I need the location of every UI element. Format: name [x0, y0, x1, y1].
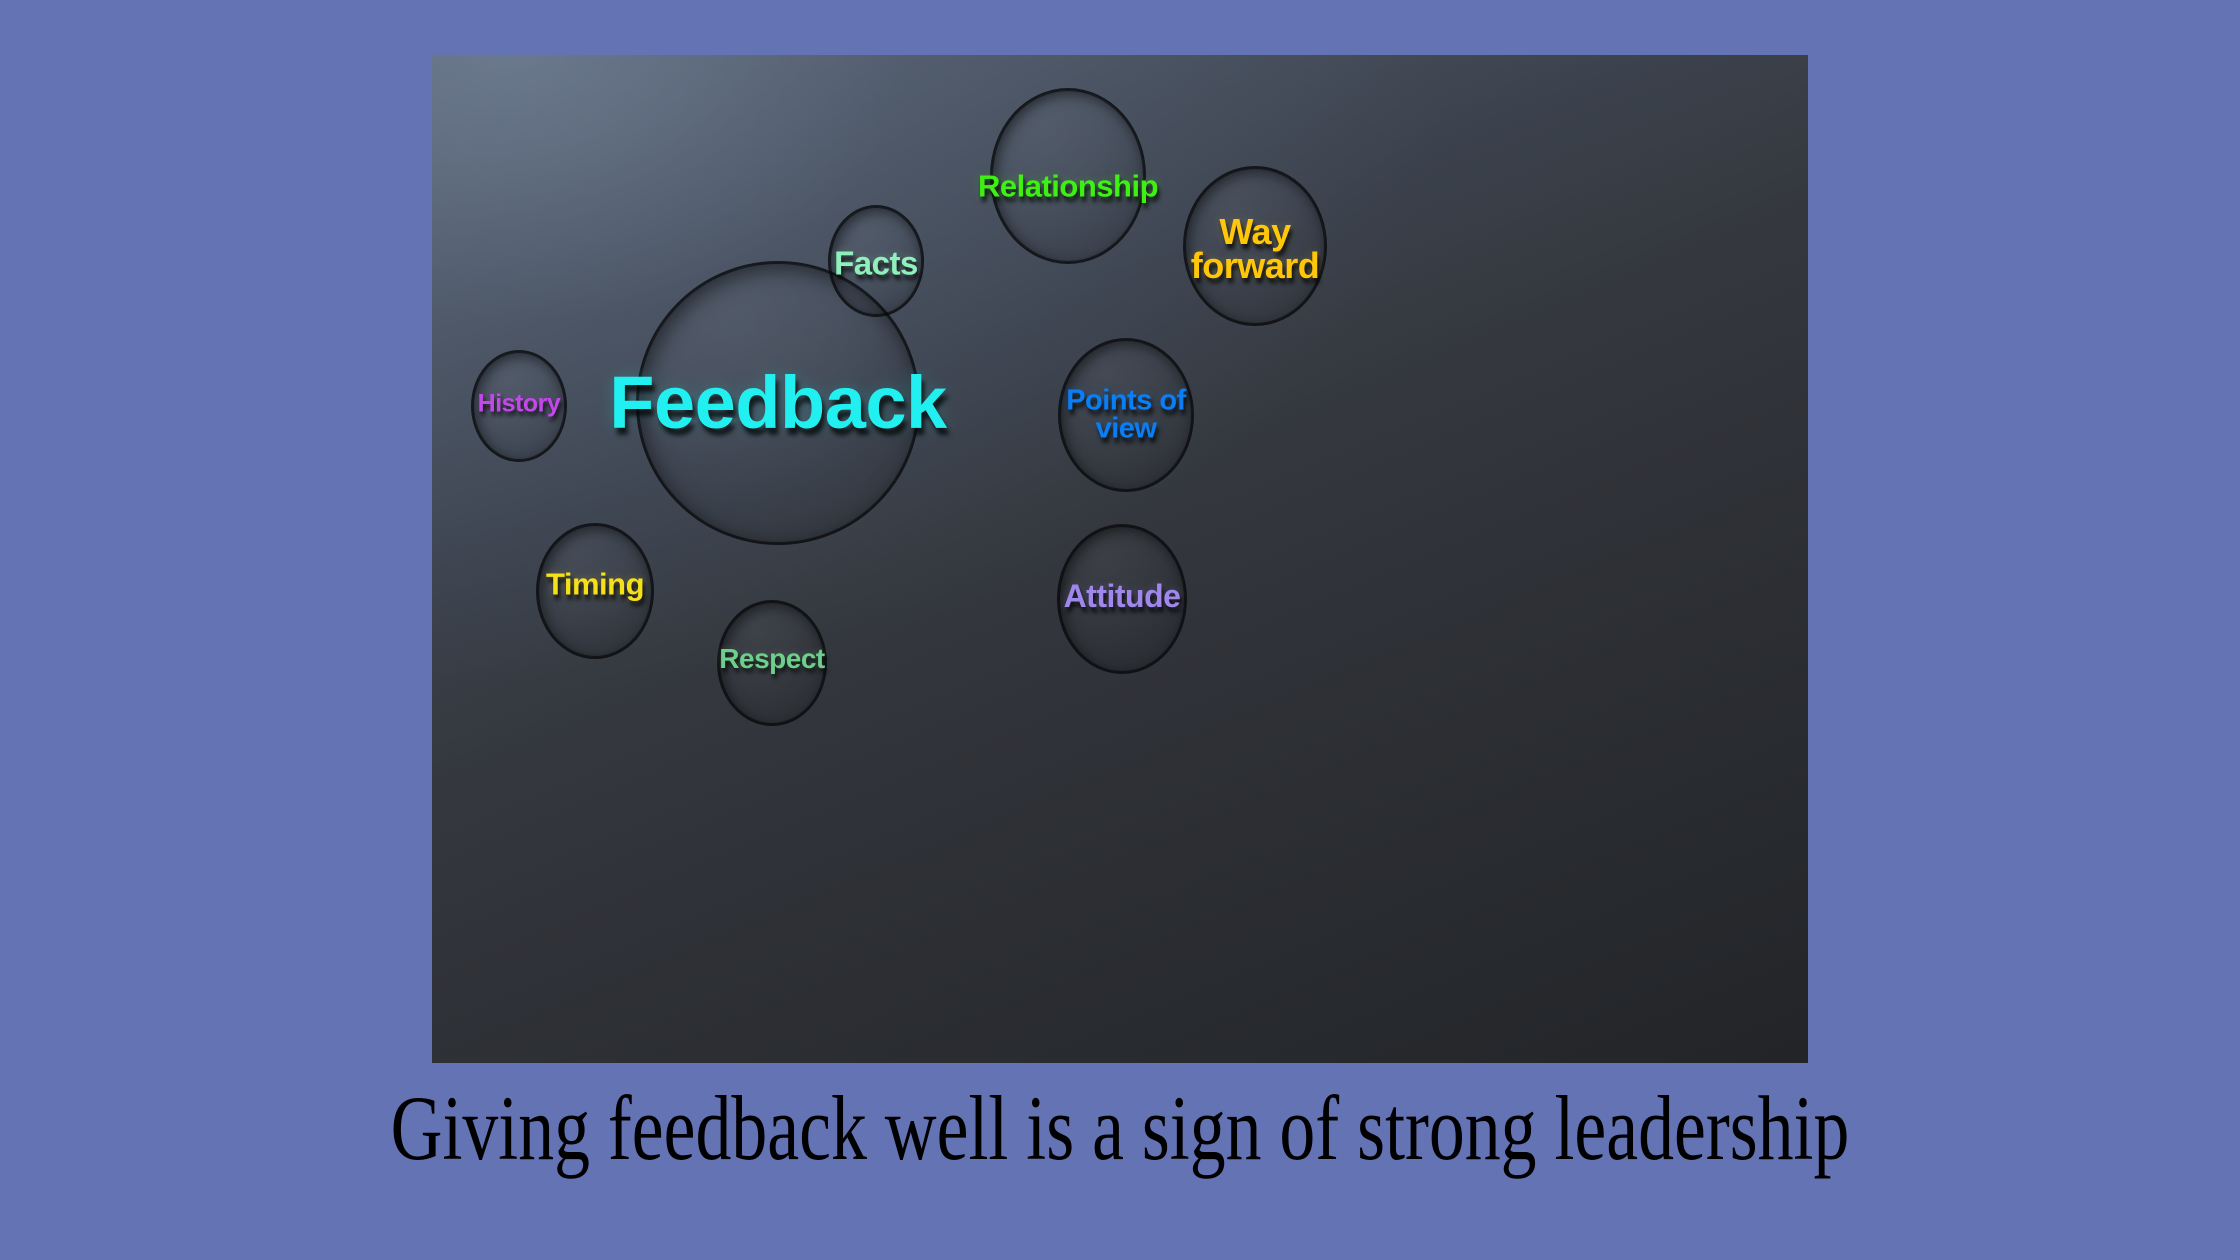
node-facts-well — [830, 207, 922, 315]
caption-text: Giving feedback well is a sign of strong… — [246, 1075, 1993, 1181]
node-history[interactable]: History — [473, 352, 565, 460]
node-respect[interactable]: Respect — [719, 602, 825, 724]
node-facts[interactable]: Facts — [830, 207, 922, 315]
node-timing[interactable]: Timing — [538, 525, 652, 657]
node-way-forward-well — [1185, 168, 1325, 324]
node-history-well — [473, 352, 565, 460]
node-timing-well — [538, 525, 652, 657]
node-points-of-view[interactable]: Points of view — [1060, 340, 1192, 490]
node-attitude[interactable]: Attitude — [1059, 526, 1185, 672]
node-relationship[interactable]: Relationship — [992, 90, 1144, 262]
node-relationship-well — [992, 90, 1144, 262]
node-attitude-well — [1059, 526, 1185, 672]
node-points-of-view-well — [1060, 340, 1192, 490]
node-respect-well — [719, 602, 825, 724]
feedback-diagram-panel: Feedback Relationship Facts Way forward … — [432, 55, 1808, 1063]
node-way-forward[interactable]: Way forward — [1185, 168, 1325, 324]
